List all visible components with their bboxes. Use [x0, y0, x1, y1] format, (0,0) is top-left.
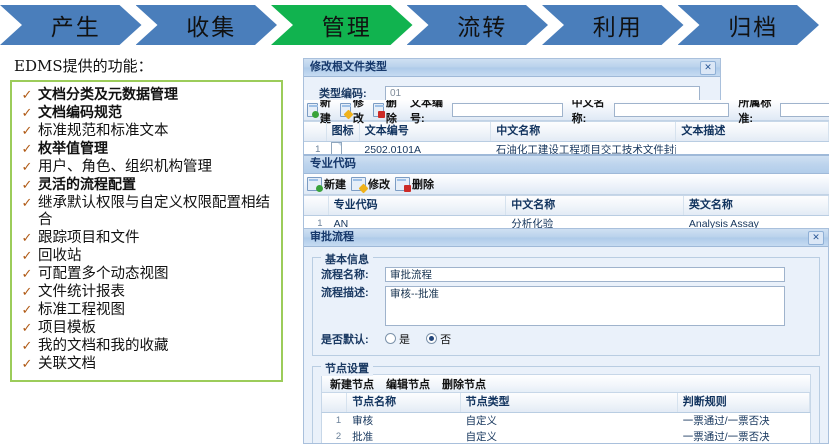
process-desc-textarea[interactable]: 审核--批准 [385, 286, 785, 326]
panel-major-code: 专业代码 新建修改删除 专业代码中文名称英文名称 1AN分析化验Analysis… [303, 154, 829, 230]
table-cell: 审核 [347, 413, 460, 429]
slide-root: 产生收集管理流转利用归档 EDMS提供的功能： ✓文档分类及元数据管理✓文档编码… [0, 0, 829, 444]
feature-item: ✓关联文档 [16, 356, 277, 373]
feature-label: 用户、角色、组织机构管理 [38, 159, 212, 176]
feature-label: 关联文档 [38, 356, 96, 373]
feature-label: 可配置多个动态视图 [38, 266, 169, 283]
new-icon [307, 103, 318, 117]
file-icon [331, 142, 342, 154]
grid-header-cell[interactable]: 判断规则 [678, 393, 810, 412]
edit-icon [340, 103, 351, 117]
check-icon: ✓ [16, 284, 38, 301]
feature-label: 文档编码规范 [38, 105, 122, 122]
check-icon: ✓ [16, 356, 38, 373]
process-step-label: 归档 [728, 8, 778, 42]
features-box: ✓文档分类及元数据管理✓文档编码规范✓标准规范和标准文本✓枚举值管理✓用户、角色… [10, 80, 283, 382]
process-step-label: 利用 [593, 8, 643, 42]
dialog-approval-titlebar: 审批流程 ✕ [304, 229, 828, 247]
features-column: EDMS提供的功能： ✓文档分类及元数据管理✓文档编码规范✓标准规范和标准文本✓… [10, 55, 295, 382]
process-step-label: 流转 [457, 8, 507, 42]
feature-label: 继承默认权限与自定义权限配置相结合 [38, 195, 277, 229]
major-code-grid-header: 专业代码中文名称英文名称 [304, 195, 829, 216]
process-step-label: 收集 [186, 8, 236, 42]
process-desc-row: 流程描述: 审核--批准 [321, 286, 811, 326]
edit-icon [351, 177, 366, 191]
check-icon: ✓ [16, 195, 38, 212]
default-flag-options[interactable]: 是 否 [385, 331, 467, 347]
feature-item: ✓回收站 [16, 248, 277, 265]
node-settings-legend: 节点设置 [321, 360, 373, 376]
radio-label: 是 [396, 334, 410, 346]
grid-header-cell[interactable]: 文本描述 [676, 122, 829, 141]
check-icon: ✓ [16, 266, 38, 283]
row-index: 1 [304, 142, 326, 154]
process-step-label: 产生 [51, 8, 101, 42]
dialog-file-type-title: 修改根文件类型 [310, 61, 387, 73]
feature-label: 灵活的流程配置 [38, 177, 136, 194]
check-icon: ✓ [16, 177, 38, 194]
process-step-3[interactable]: 管理 [271, 5, 413, 45]
dialog-approval-body: 基本信息 流程名称: 审批流程 流程描述: 审核--批准 是否默认: 是 否 节… [304, 247, 828, 444]
grid-header-index [322, 393, 347, 412]
type-code-label: 类型编码: [319, 85, 385, 101]
check-icon: ✓ [16, 105, 38, 122]
filter-input[interactable] [780, 103, 829, 117]
row-index: 1 [322, 413, 347, 429]
feature-item: ✓用户、角色、组织机构管理 [16, 159, 277, 176]
check-icon: ✓ [16, 302, 38, 319]
table-row[interactable]: 1审核自定义一票通过/一票否决 [322, 413, 810, 429]
dialog-approval[interactable]: 审批流程 ✕ 基本信息 流程名称: 审批流程 流程描述: 审核--批准 是否默认… [303, 228, 829, 444]
radio-option[interactable]: 是 [385, 334, 410, 346]
feature-item: ✓文档分类及元数据管理 [16, 87, 277, 104]
toolbar-button-new[interactable]: 新建 [307, 176, 346, 192]
close-icon[interactable]: ✕ [808, 231, 824, 245]
grid-header-cell[interactable]: 节点名称 [347, 393, 460, 412]
feature-label: 枚举值管理 [38, 141, 108, 158]
grid-header-cell[interactable]: 文本编号 [360, 122, 491, 141]
node-menu-item[interactable]: 新建节点 [330, 376, 374, 392]
feature-item: ✓标准规范和标准文本 [16, 123, 277, 140]
delete-icon [373, 103, 384, 117]
radio-option[interactable]: 否 [426, 334, 451, 346]
node-menu-item[interactable]: 删除节点 [442, 376, 486, 392]
toolbar-button-edit[interactable]: 修改 [351, 176, 390, 192]
features-lead: EDMS提供的功能： [14, 55, 295, 76]
check-icon: ✓ [16, 87, 38, 104]
process-banner: 产生收集管理流转利用归档 [0, 5, 829, 45]
node-settings-fieldset: 节点设置 新建节点编辑节点删除节点 节点名称节点类型判断规则 1审核自定义一票通… [312, 366, 820, 444]
toolbar-button-label: 新建 [324, 176, 346, 192]
grid-header-index [304, 122, 327, 141]
dialog-file-type-titlebar: 修改根文件类型 ✕ [304, 59, 720, 77]
feature-item: ✓可配置多个动态视图 [16, 266, 277, 283]
toolbar-button-delete[interactable]: 删除 [395, 176, 434, 192]
radio-icon[interactable] [426, 333, 437, 344]
feature-label: 标准工程视图 [38, 302, 125, 319]
check-icon: ✓ [16, 338, 38, 355]
check-icon: ✓ [16, 141, 38, 158]
process-step-1[interactable]: 产生 [0, 5, 142, 45]
feature-item: ✓继承默认权限与自定义权限配置相结合 [16, 195, 277, 229]
feature-label: 文档分类及元数据管理 [38, 87, 178, 104]
radio-icon[interactable] [385, 333, 396, 344]
check-icon: ✓ [16, 159, 38, 176]
file-type-grid-header: 图标文本编号中文名称文本描述 [304, 121, 829, 142]
table-cell: 自定义 [461, 429, 678, 444]
process-step-2[interactable]: 收集 [136, 5, 278, 45]
feature-label: 标准规范和标准文本 [38, 123, 169, 140]
grid-header-cell[interactable]: 中文名称 [506, 196, 684, 215]
table-row[interactable]: 12502.0101A石油化工建设工程项目交工技术文件封面A [304, 142, 829, 154]
basic-info-legend: 基本信息 [321, 251, 373, 267]
grid-header-cell[interactable]: 专业代码 [329, 196, 507, 215]
feature-label: 跟踪项目和文件 [38, 230, 140, 247]
process-name-input[interactable]: 审批流程 [385, 267, 785, 282]
table-cell [676, 142, 829, 154]
node-grid-rows: 1审核自定义一票通过/一票否决2批准自定义一票通过/一票否决 [321, 413, 811, 444]
row-index: 2 [322, 429, 347, 444]
node-menu-item[interactable]: 编辑节点 [386, 376, 430, 392]
basic-info-fieldset: 基本信息 流程名称: 审批流程 流程描述: 审核--批准 是否默认: 是 否 [312, 257, 820, 356]
table-cell: 批准 [347, 429, 460, 444]
table-row[interactable]: 2批准自定义一票通过/一票否决 [322, 429, 810, 444]
feature-item: ✓文件统计报表 [16, 284, 277, 301]
filter-input[interactable] [614, 103, 729, 117]
check-icon: ✓ [16, 123, 38, 140]
table-cell: 一票通过/一票否决 [678, 429, 810, 444]
radio-label: 否 [437, 334, 451, 346]
feature-item: ✓项目模板 [16, 320, 277, 337]
dialog-approval-title: 审批流程 [310, 231, 354, 243]
feature-label: 项目模板 [38, 320, 96, 337]
feature-item: ✓我的文档和我的收藏 [16, 338, 277, 355]
process-step-label: 管理 [322, 8, 372, 42]
node-menubar[interactable]: 新建节点编辑节点删除节点 [321, 374, 811, 392]
table-cell: 2502.0101A [359, 142, 491, 154]
feature-label: 我的文档和我的收藏 [38, 338, 169, 355]
feature-label: 文件统计报表 [38, 284, 125, 301]
default-flag-row: 是否默认: 是 否 [321, 329, 811, 349]
filter-input[interactable] [452, 103, 563, 117]
file-type-grid-rows: 12502.0101A石油化工建设工程项目交工技术文件封面A [304, 142, 829, 154]
process-step-5[interactable]: 利用 [542, 5, 684, 45]
table-cell [326, 142, 359, 154]
grid-header-cell[interactable]: 图标 [327, 122, 360, 141]
feature-item: ✓文档编码规范 [16, 105, 277, 122]
feature-item: ✓枚举值管理 [16, 141, 277, 158]
process-step-4[interactable]: 流转 [407, 5, 549, 45]
process-name-row: 流程名称: 审批流程 [321, 264, 811, 284]
table-cell: 自定义 [461, 413, 678, 429]
feature-item: ✓标准工程视图 [16, 302, 277, 319]
node-grid-header: 节点名称节点类型判断规则 [321, 392, 811, 413]
file-type-grid-region: 新建修改删除文本编号:中文名称:所属标准: 图标文本编号中文名称文本描述 125… [303, 100, 829, 154]
file-type-toolbar[interactable]: 新建修改删除文本编号:中文名称:所属标准: [304, 100, 829, 121]
default-flag-label: 是否默认: [321, 331, 385, 347]
type-code-input[interactable]: 01 [385, 86, 700, 101]
grid-header-cell[interactable]: 节点类型 [461, 393, 678, 412]
check-icon: ✓ [16, 320, 38, 337]
major-code-toolbar[interactable]: 新建修改删除 [304, 174, 829, 195]
feature-label: 回收站 [38, 248, 82, 265]
feature-item: ✓跟踪项目和文件 [16, 230, 277, 247]
toolbar-button-label: 删除 [412, 176, 434, 192]
major-code-band: 专业代码 [304, 155, 829, 174]
grid-header-cell[interactable]: 英文名称 [684, 196, 829, 215]
feature-item: ✓灵活的流程配置 [16, 177, 277, 194]
delete-icon [395, 177, 410, 191]
toolbar-button-label: 修改 [368, 176, 390, 192]
new-icon [307, 177, 322, 191]
process-desc-label: 流程描述: [321, 286, 385, 300]
grid-header-index [304, 196, 329, 215]
grid-header-cell[interactable]: 中文名称 [491, 122, 676, 141]
process-name-label: 流程名称: [321, 266, 385, 282]
check-icon: ✓ [16, 248, 38, 265]
check-icon: ✓ [16, 230, 38, 247]
table-cell: 一票通过/一票否决 [678, 413, 810, 429]
process-step-6[interactable]: 归档 [678, 5, 820, 45]
table-cell: 石油化工建设工程项目交工技术文件封面A [491, 142, 676, 154]
close-icon[interactable]: ✕ [700, 61, 716, 75]
